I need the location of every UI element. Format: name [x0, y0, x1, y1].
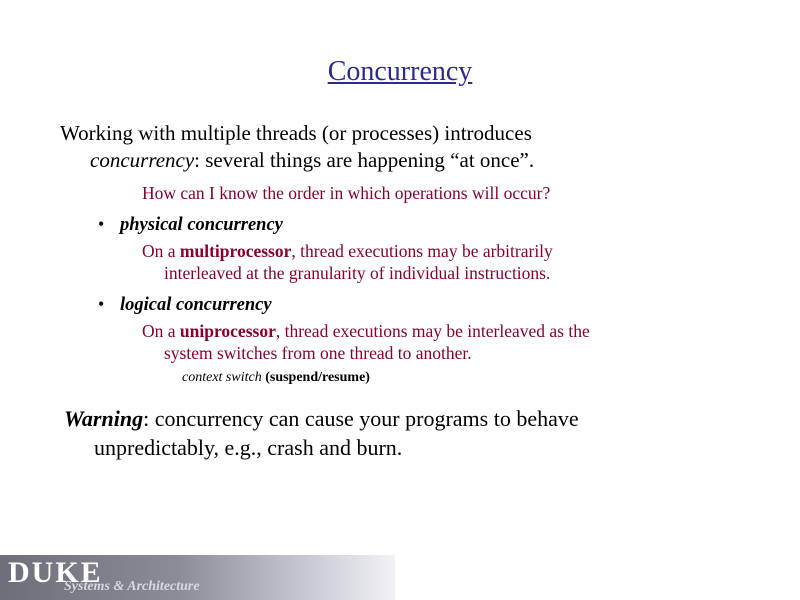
intro-line-2-rest: : several things are happening “at once”… [194, 148, 534, 172]
bullet-detail-physical: On a multiprocessor, thread executions m… [142, 240, 754, 284]
footer-banner: DUKE Systems & Architecture [0, 555, 395, 600]
bullet-item-physical: • physical concurrency [98, 214, 754, 236]
note-bold: (suspend/resume) [262, 370, 370, 385]
bullet-label-logical: logical concurrency [120, 295, 272, 316]
intro-line-1: Working with multiple threads (or proces… [60, 121, 532, 145]
detail-physical-bold: multiprocessor [180, 241, 291, 261]
bullet-detail-logical: On a uniprocessor, thread executions may… [142, 320, 754, 364]
question-line: How can I know the order in which operat… [142, 182, 754, 204]
slide-body: Working with multiple threads (or proces… [54, 120, 754, 462]
detail-physical-post: , thread executions may be arbitrarily [291, 241, 552, 261]
warning-line-2: unpredictably, e.g., crash and burn. [64, 433, 754, 462]
detail-logical-pre: On a [142, 321, 180, 341]
bullet-dot-icon: • [98, 214, 120, 235]
slide: Concurrency Working with multiple thread… [0, 0, 800, 600]
intro-line-2: concurrency: several things are happenin… [64, 147, 754, 174]
warning-line-1: : concurrency can cause your programs to… [143, 406, 579, 431]
bullet-label-physical: physical concurrency [120, 215, 283, 236]
footer-subtitle: Systems & Architecture [64, 579, 200, 595]
intro-paragraph: Working with multiple threads (or proces… [54, 120, 754, 174]
detail-logical-bold: uniprocessor [180, 321, 276, 341]
intro-emphasis: concurrency [90, 148, 194, 172]
detail-physical-pre: On a [142, 241, 180, 261]
warning-label: Warning [64, 406, 143, 431]
bullet-dot-icon: • [98, 294, 120, 315]
bullet-item-logical: • logical concurrency [98, 294, 754, 316]
warning-paragraph: Warning: concurrency can cause your prog… [54, 404, 754, 462]
detail-logical-line2: system switches from one thread to anoth… [142, 342, 754, 364]
context-switch-note: context switch (suspend/resume) [182, 370, 754, 386]
detail-logical-post: , thread executions may be interleaved a… [276, 321, 590, 341]
note-italic: context switch [182, 370, 262, 385]
page-title: Concurrency [0, 56, 800, 88]
detail-physical-line2: interleaved at the granularity of indivi… [142, 262, 754, 284]
